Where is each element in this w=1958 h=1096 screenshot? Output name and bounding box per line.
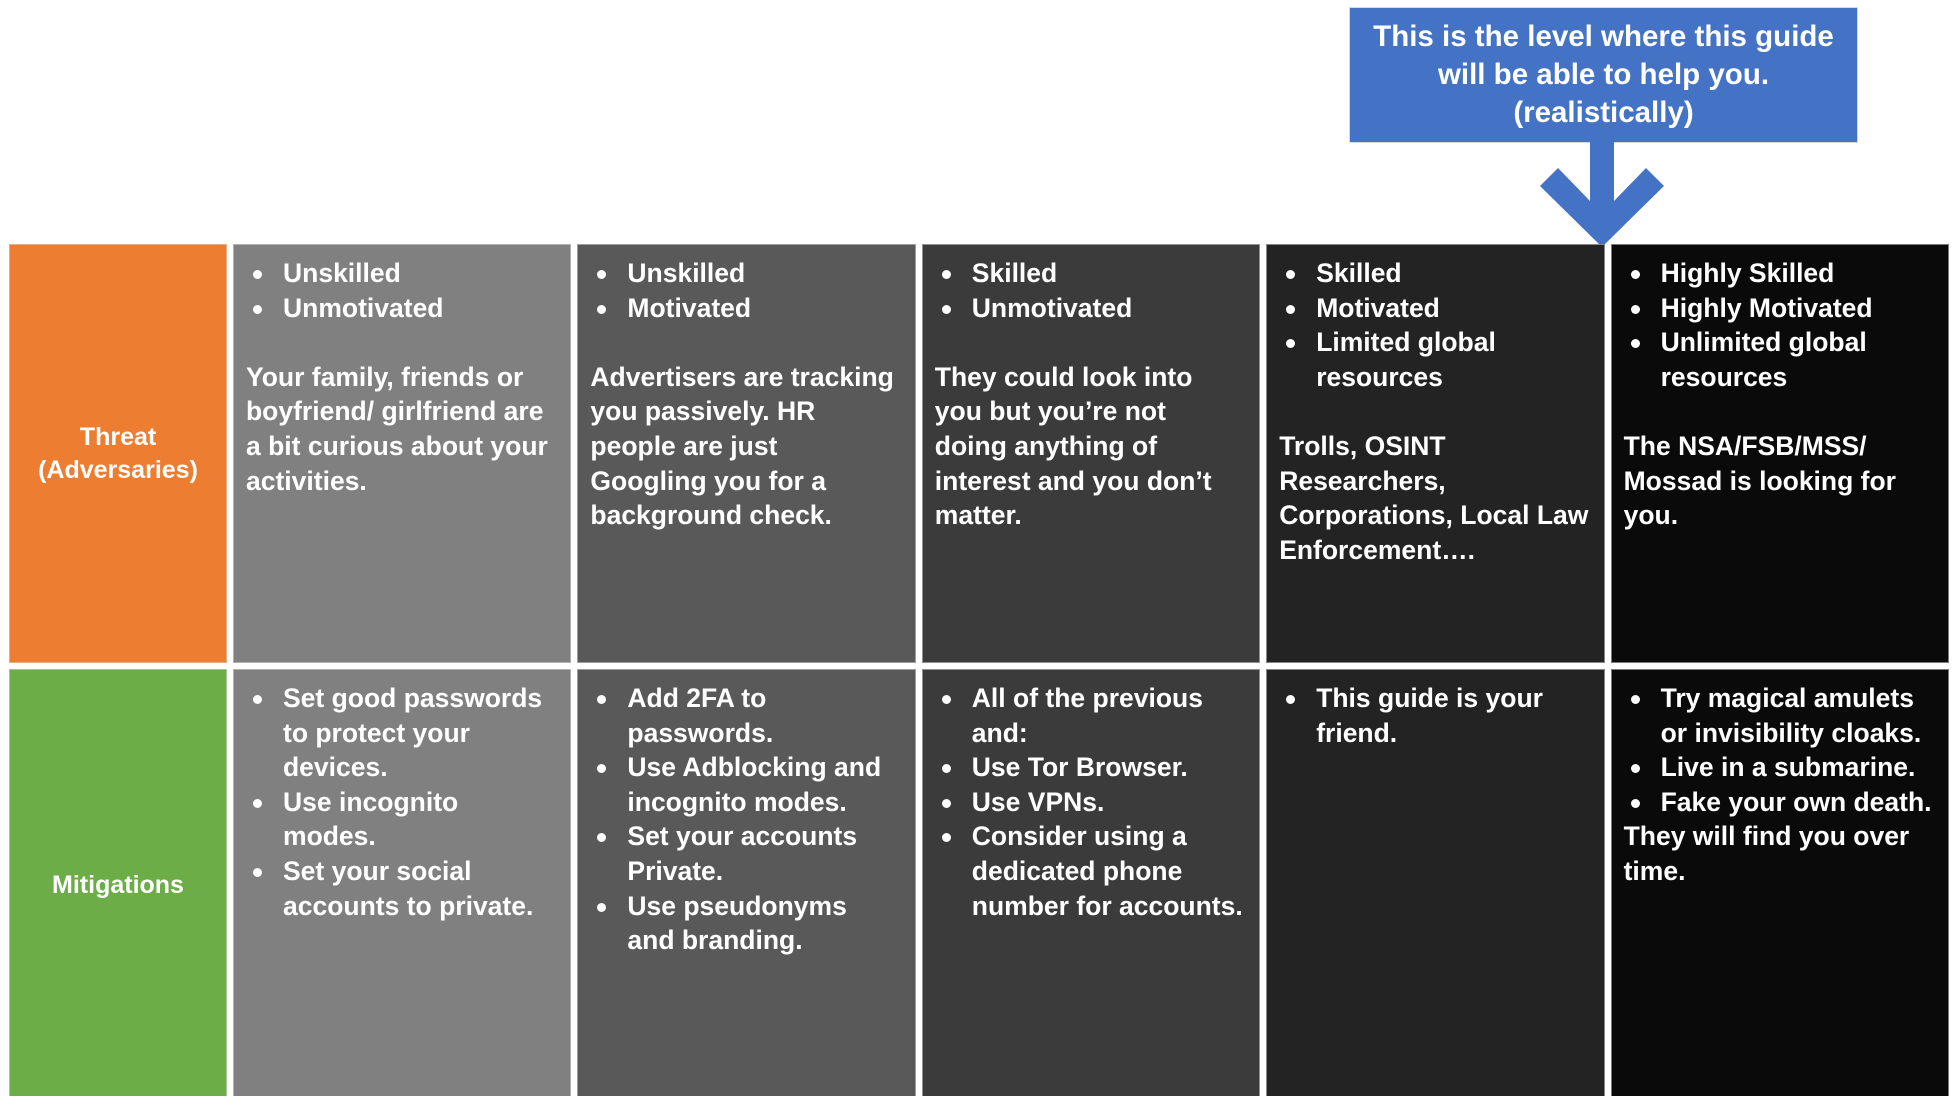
mitigations-cell-level-2: Add 2FA to passwords. Use Adblocking and…	[577, 669, 915, 1096]
threat-paragraph-level-2: Advertisers are tracking you passively. …	[590, 360, 900, 533]
threat-bullets-level-3: Skilled Unmotivated	[935, 256, 1245, 325]
threat-model-matrix-slide: This is the level where this guide will …	[0, 0, 1958, 1096]
threat-bullets-level-4: Skilled Motivated Limited global resourc…	[1279, 256, 1589, 394]
list-item: Limited global resources	[1279, 325, 1589, 394]
threat-bullets-level-2: Unskilled Motivated	[590, 256, 900, 325]
list-item: Unmotivated	[246, 291, 556, 326]
threat-paragraph-level-4: Trolls, OSINT Researchers, Corporations,…	[1279, 429, 1589, 567]
list-item: Set your social accounts to private.	[246, 854, 556, 923]
mitigations-bullets-level-1: Set good passwords to protect your devic…	[246, 681, 556, 923]
list-item: All of the previous and:	[935, 681, 1245, 750]
list-item: Unskilled	[590, 256, 900, 291]
list-item: Unmotivated	[935, 291, 1245, 326]
mitigations-bullets-level-2: Add 2FA to passwords. Use Adblocking and…	[590, 681, 900, 958]
list-item: Highly Skilled	[1624, 256, 1934, 291]
list-item: Skilled	[935, 256, 1245, 291]
callout-line-2: will be able to help you.	[1438, 56, 1769, 94]
list-item: Set good passwords to protect your devic…	[246, 681, 556, 785]
threat-cell-level-3: Skilled Unmotivated They could look into…	[922, 244, 1260, 663]
callout-line-3: (realistically)	[1513, 94, 1693, 132]
list-item: Use VPNs.	[935, 785, 1245, 820]
threat-bullets-level-5: Highly Skilled Highly Motivated Unlimite…	[1624, 256, 1934, 394]
threat-bullets-level-1: Unskilled Unmotivated	[246, 256, 556, 325]
threat-paragraph-level-1: Your family, friends or boyfriend/ girlf…	[246, 360, 556, 498]
list-item: Consider using a dedicated phone number …	[935, 819, 1245, 923]
list-item: This guide is your friend.	[1279, 681, 1589, 750]
list-item: Motivated	[590, 291, 900, 326]
list-item: Motivated	[1279, 291, 1589, 326]
list-item: Fake your own death.	[1624, 785, 1934, 820]
mitigations-bullets-level-4: This guide is your friend.	[1279, 681, 1589, 750]
list-item: Set your accounts Private.	[590, 819, 900, 888]
matrix-grid: Threat(Adversaries) Unskilled Unmotivate…	[9, 244, 1949, 1096]
list-item: Unskilled	[246, 256, 556, 291]
callout-line-1: This is the level where this guide	[1373, 18, 1834, 56]
mitigations-bullets-level-5: Try magical amulets or invisibility cloa…	[1624, 681, 1934, 819]
list-item: Unlimited global resources	[1624, 325, 1934, 394]
list-item: Use incognito modes.	[246, 785, 556, 854]
callout-box: This is the level where this guide will …	[1349, 7, 1858, 143]
arrow-down-icon	[1540, 141, 1664, 247]
threat-cell-level-5: Highly Skilled Highly Motivated Unlimite…	[1611, 244, 1949, 663]
row-header-mitigations: Mitigations	[9, 669, 227, 1096]
row-header-mitigations-label: Mitigations	[52, 869, 184, 902]
list-item: Skilled	[1279, 256, 1589, 291]
list-item: Add 2FA to passwords.	[590, 681, 900, 750]
mitigations-cell-level-1: Set good passwords to protect your devic…	[233, 669, 571, 1096]
threat-paragraph-level-5: The NSA/FSB/MSS/ Mossad is looking for y…	[1624, 429, 1934, 533]
row-header-threat: Threat(Adversaries)	[9, 244, 227, 663]
mitigations-cell-level-4: This guide is your friend.	[1266, 669, 1604, 1096]
threat-cell-level-1: Unskilled Unmotivated Your family, frien…	[233, 244, 571, 663]
threat-cell-level-4: Skilled Motivated Limited global resourc…	[1266, 244, 1604, 663]
list-item: Highly Motivated	[1624, 291, 1934, 326]
list-item: Live in a submarine.	[1624, 750, 1934, 785]
list-item: Use Adblocking and incognito modes.	[590, 750, 900, 819]
row-header-threat-label: Threat(Adversaries)	[38, 421, 198, 487]
list-item: Use Tor Browser.	[935, 750, 1245, 785]
threat-paragraph-level-3: They could look into you but you’re not …	[935, 360, 1245, 533]
list-item: Use pseudonyms and branding.	[590, 889, 900, 958]
mitigations-cell-level-5: Try magical amulets or invisibility cloa…	[1611, 669, 1949, 1096]
mitigations-cell-level-3: All of the previous and: Use Tor Browser…	[922, 669, 1260, 1096]
list-item: Try magical amulets or invisibility cloa…	[1624, 681, 1934, 750]
threat-cell-level-2: Unskilled Motivated Advertisers are trac…	[577, 244, 915, 663]
mitigations-paragraph-level-5: They will find you over time.	[1624, 819, 1934, 888]
mitigations-bullets-level-3: All of the previous and: Use Tor Browser…	[935, 681, 1245, 923]
